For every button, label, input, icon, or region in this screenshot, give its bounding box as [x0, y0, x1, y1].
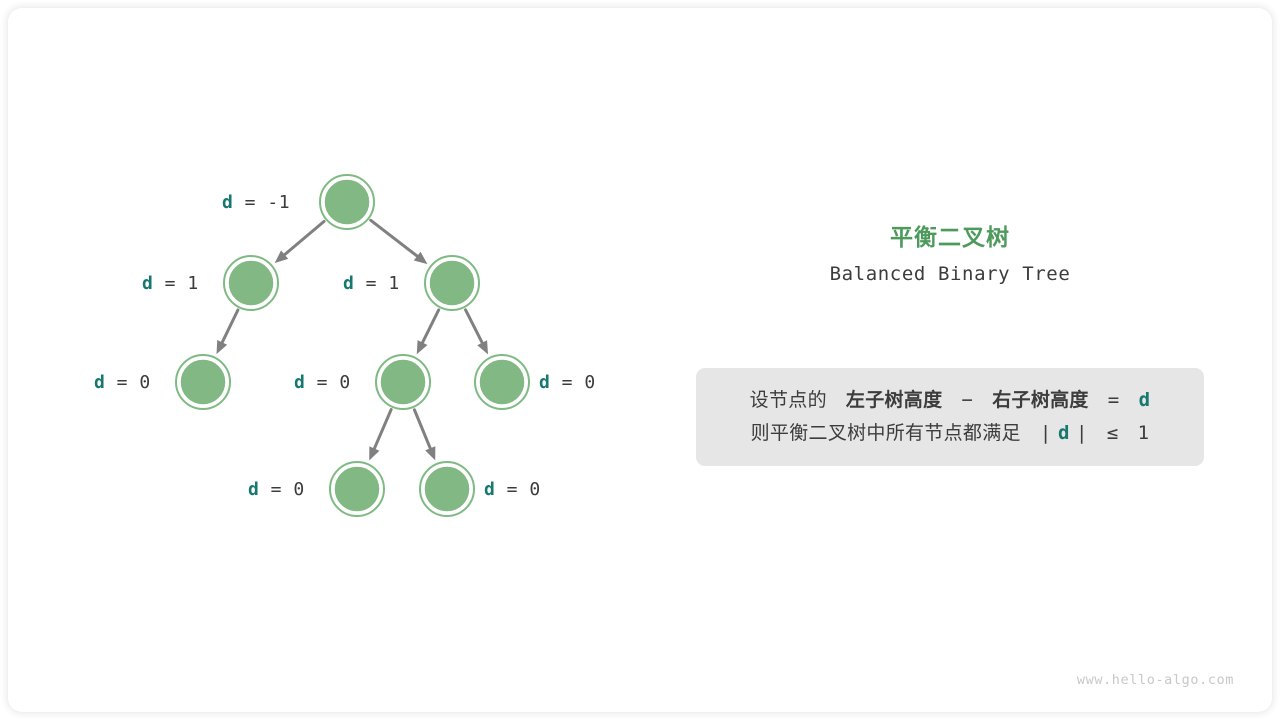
tree-node-circle: [479, 359, 526, 406]
node-balance-label: d = 0: [294, 372, 351, 393]
definition-prefix: 设节点的: [750, 389, 827, 411]
node-balance-label: d = 1: [142, 273, 199, 294]
node-balance-value: = 0: [550, 372, 595, 393]
node-balance-label: d = 0: [539, 372, 596, 393]
tree-edge: [371, 220, 417, 256]
tree-edge: [374, 410, 391, 449]
node-balance-variable: d: [294, 372, 305, 393]
node-balance-value: = 1: [153, 273, 198, 294]
tree-node-circle: [180, 359, 227, 406]
tree-node-circle: [380, 359, 427, 406]
definition-line-1: 设节点的 左子树高度 − 右子树高度 = d: [750, 384, 1151, 417]
tree-node-circle: [429, 260, 476, 307]
definition-line-2: 则平衡二叉树中所有节点都满足 | d | ≤ 1: [751, 417, 1150, 450]
node-balance-variable: d: [248, 479, 259, 500]
node-balance-label: d = 1: [343, 273, 400, 294]
node-balance-value: = 0: [105, 372, 150, 393]
balance-factor-variable: d: [1139, 389, 1151, 411]
node-balance-label: d = 0: [248, 479, 305, 500]
node-balance-value: = 0: [495, 479, 540, 500]
tree-node-circle: [324, 179, 371, 226]
panel-title: 平衡二叉树: [696, 224, 1204, 254]
node-balance-label: d = -1: [222, 192, 290, 213]
abs-bar-open: |: [1040, 422, 1052, 444]
node-balance-variable: d: [484, 479, 495, 500]
panel-subtitle: Balanced Binary Tree: [696, 263, 1204, 285]
definition-box: 设节点的 左子树高度 − 右子树高度 = d 则平衡二叉树中所有节点都满足 | …: [696, 368, 1204, 466]
equals-operator: =: [1108, 389, 1120, 411]
tree-edge-arrowhead: [425, 446, 435, 460]
less-equal-operator: ≤: [1107, 422, 1119, 444]
node-balance-variable: d: [94, 372, 105, 393]
node-balance-label: d = 0: [94, 372, 151, 393]
tree-nodes: [176, 175, 529, 516]
tree-node-circle: [228, 260, 275, 307]
binary-tree-graphic: [0, 0, 1280, 720]
node-balance-value: = 0: [305, 372, 350, 393]
abs-bar-close: |: [1076, 422, 1088, 444]
threshold-value: 1: [1138, 422, 1150, 444]
tree-edge: [423, 310, 439, 343]
tree-edge: [222, 310, 238, 342]
node-balance-variable: d: [539, 372, 550, 393]
minus-operator: −: [961, 389, 973, 411]
definition-condition-prefix: 则平衡二叉树中所有节点都满足: [751, 422, 1021, 444]
node-balance-label: d = 0: [484, 479, 541, 500]
watermark: www.hello-algo.com: [1077, 672, 1234, 688]
tree-node-circle: [424, 466, 471, 513]
node-balance-variable: d: [222, 192, 233, 213]
node-balance-variable: d: [343, 273, 354, 294]
node-balance-variable: d: [142, 273, 153, 294]
node-balance-value: = -1: [233, 192, 290, 213]
left-subtree-height-term: 左子树高度: [846, 389, 943, 411]
tree-edge: [466, 310, 483, 343]
node-balance-value: = 0: [259, 479, 304, 500]
tree-edge: [285, 221, 324, 254]
balance-factor-variable-2: d: [1058, 422, 1070, 444]
tree-node-circle: [334, 466, 381, 513]
node-balance-value: = 1: [354, 273, 399, 294]
tree-edge: [414, 410, 430, 449]
info-panel: 平衡二叉树 Balanced Binary Tree: [696, 224, 1204, 285]
right-subtree-height-term: 右子树高度: [992, 389, 1089, 411]
diagram-canvas: d = -1d = 1d = 1d = 0d = 0d = 0d = 0d = …: [0, 0, 1280, 720]
